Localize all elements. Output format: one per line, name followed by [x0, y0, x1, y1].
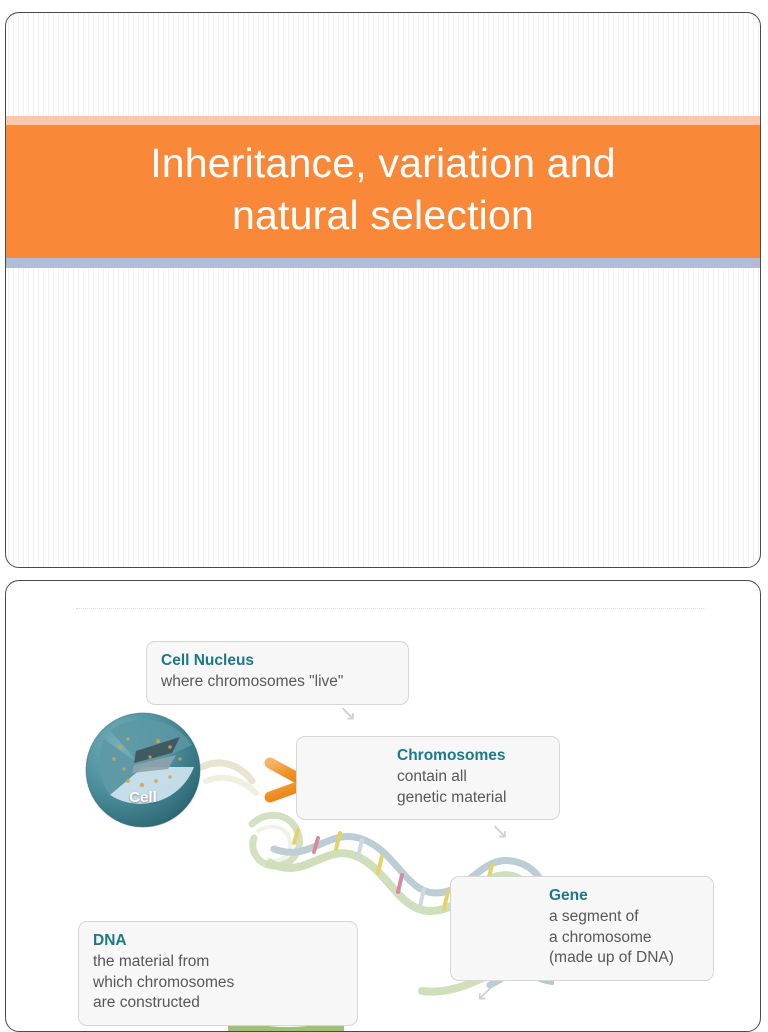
callout-dna-line-2: which chromosomes: [93, 973, 287, 994]
arrow-nucleus-to-chromosomes: ↘: [339, 703, 357, 724]
page-title: Inheritance, variation and natural selec…: [63, 137, 703, 242]
slide-2: Cell: [5, 580, 761, 1032]
arrow-gene-to-dna: ↙: [476, 983, 494, 1004]
callout-cell-nucleus-title: Cell Nucleus: [161, 651, 394, 671]
callout-cell-nucleus: Cell Nucleus where chromosomes "live": [146, 641, 409, 705]
callout-gene-line-2: a chromosome: [549, 928, 699, 949]
arrow-chromosomes-to-gene: ↘: [491, 821, 509, 842]
callout-chromosomes-line-1: contain all: [397, 767, 545, 788]
callout-dna: DNA the material from which chromosomes …: [78, 921, 358, 1026]
slide-deck-page: Inheritance, variation and natural selec…: [0, 0, 768, 1024]
callout-chromosomes-title: Chromosomes: [397, 746, 545, 766]
callout-gene-line-3: (made up of DNA): [549, 948, 699, 969]
callout-chromosomes-line-2: genetic material: [397, 788, 545, 809]
callout-gene-title: Gene: [549, 886, 699, 906]
callout-dna-line-1: the material from: [93, 952, 287, 973]
banner-top-accent-bar: [6, 116, 760, 125]
callout-dna-line-3: are constructed: [93, 993, 287, 1014]
cell-to-gene-hierarchy-diagram: Cell: [6, 581, 761, 1032]
callout-dna-title: DNA: [93, 931, 287, 951]
page-title-line-1: Inheritance, variation and: [63, 137, 703, 189]
slide-1: Inheritance, variation and natural selec…: [5, 12, 761, 568]
callout-cell-nucleus-line-1: where chromosomes "live": [161, 672, 394, 693]
page-title-line-2: natural selection: [63, 189, 703, 241]
callout-chromosomes: Chromosomes contain all genetic material: [296, 736, 560, 820]
cell-illustration: [84, 711, 202, 829]
callout-gene-line-1: a segment of: [549, 907, 699, 928]
title-banner: Inheritance, variation and natural selec…: [6, 116, 760, 268]
callout-gene: Gene a segment of a chromosome (made up …: [450, 876, 714, 981]
banner-bottom-accent-bar: [6, 258, 760, 268]
banner-body: Inheritance, variation and natural selec…: [6, 125, 760, 258]
